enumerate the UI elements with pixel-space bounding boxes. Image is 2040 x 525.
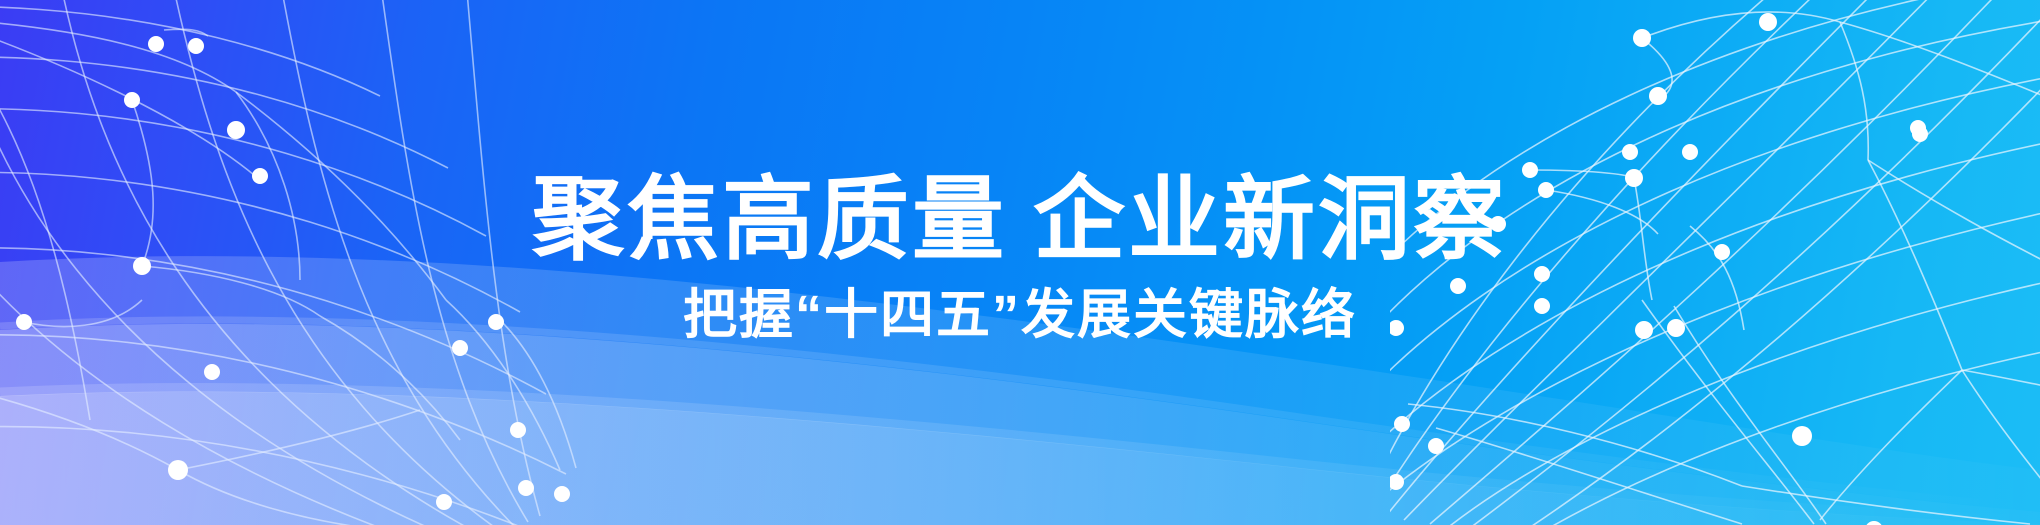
- banner-text-block: 聚焦高质量企业新洞察 把握“十四五”发展关键脉络: [0, 0, 2040, 525]
- promo-banner: 聚焦高质量企业新洞察 把握“十四五”发展关键脉络: [0, 0, 2040, 525]
- headline-part-1: 聚焦高质量: [532, 169, 1007, 271]
- headline-part-2: 企业新洞察: [1033, 169, 1508, 271]
- banner-headline: 聚焦高质量企业新洞察: [532, 174, 1508, 266]
- banner-subheadline: 把握“十四五”发展关键脉络: [683, 288, 1357, 342]
